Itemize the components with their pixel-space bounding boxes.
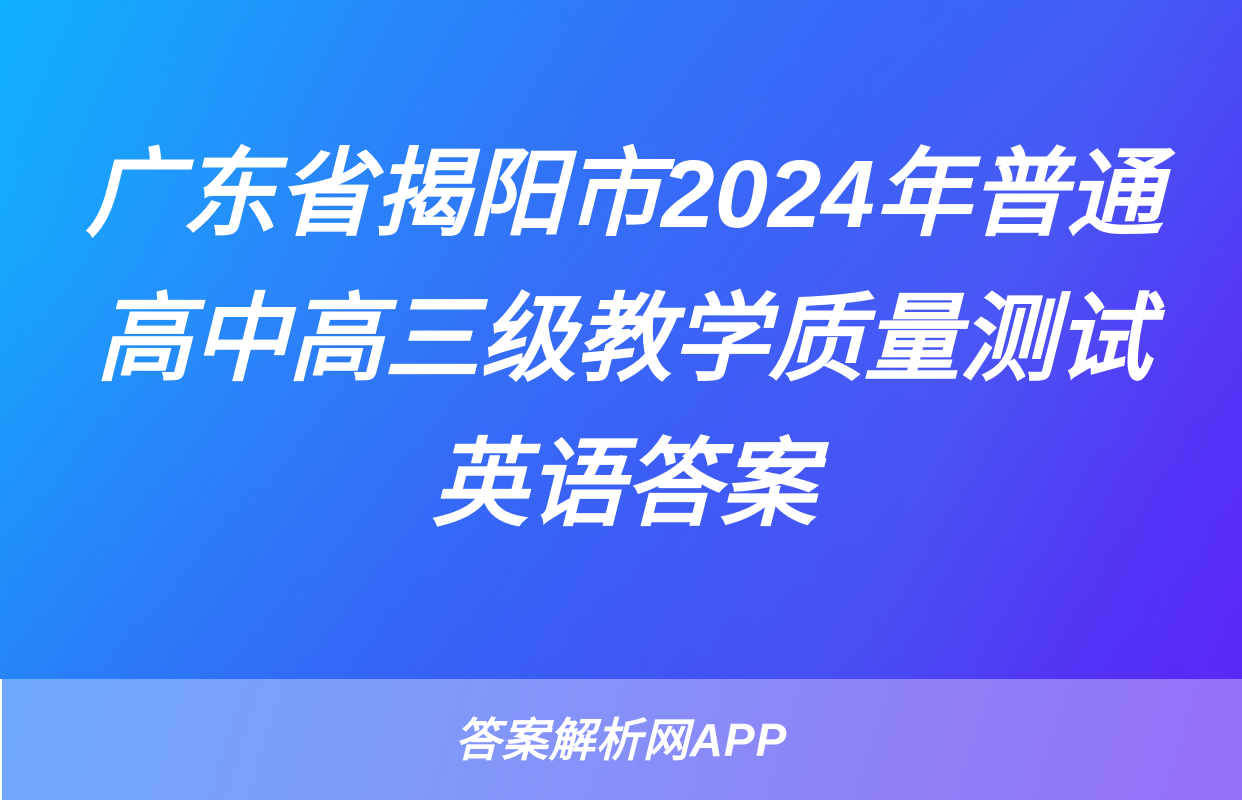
- app-promo-label: 答案解析网APP: [455, 717, 788, 763]
- app-promo-banner[interactable]: 答案解析网APP: [0, 679, 1242, 800]
- poster-canvas: 广东省揭阳市2024年普通高中高三级教学质量测试英语答案 答案解析网APP: [0, 0, 1242, 800]
- banner-left-edge-sliver: [0, 679, 2, 800]
- page-title: 广东省揭阳市2024年普通高中高三级教学质量测试英语答案: [68, 122, 1174, 557]
- title-container: 广东省揭阳市2024年普通高中高三级教学质量测试英语答案: [0, 0, 1242, 679]
